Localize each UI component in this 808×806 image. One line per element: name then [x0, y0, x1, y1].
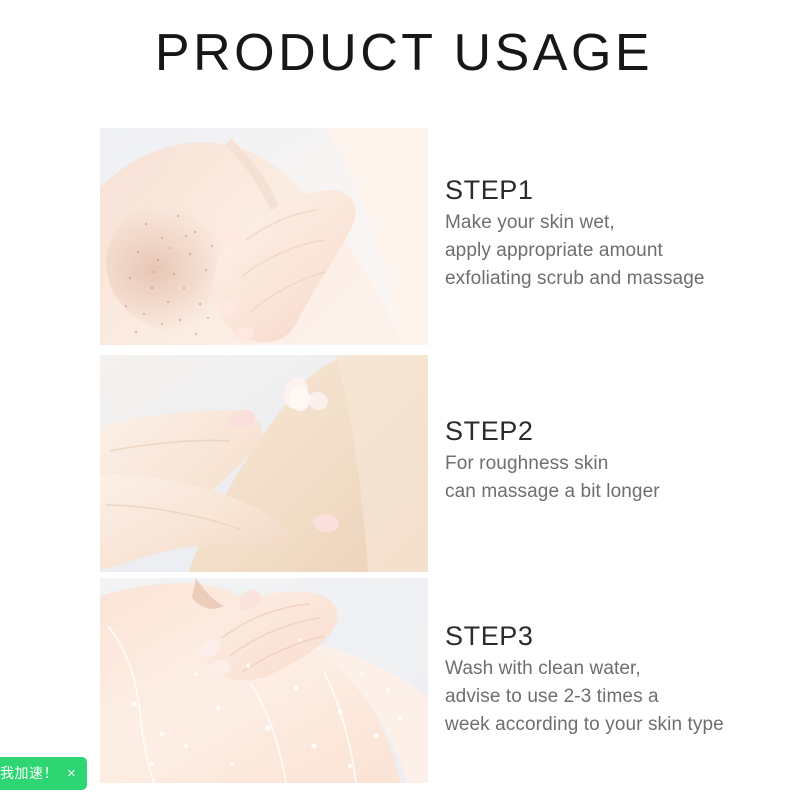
step-photo-1 [100, 128, 428, 345]
step-body-line: apply appropriate amount [445, 237, 790, 265]
step-body-line: For roughness skin [445, 450, 790, 478]
step-heading: STEP2 [445, 415, 790, 447]
rinsing-shoulder-illustration [100, 578, 428, 783]
step-heading: STEP1 [445, 174, 790, 206]
step-photo-2 [100, 355, 428, 572]
step-body-line: Wash with clean water, [445, 655, 790, 683]
step-body: For roughness skin can massage a bit lon… [445, 450, 790, 506]
accelerate-badge-label: 我加速！ [0, 757, 58, 790]
step-heading: STEP3 [445, 620, 790, 652]
step-photo-3 [100, 578, 428, 783]
step-text-block: STEP2 For roughness skin can massage a b… [445, 415, 790, 506]
step-body: Wash with clean water, advise to use 2-3… [445, 655, 790, 739]
step-body-line: advise to use 2-3 times a [445, 683, 790, 711]
accelerate-floating-badge[interactable]: 我加速！ × [0, 757, 87, 790]
step-body-line: Make your skin wet, [445, 209, 790, 237]
scrub-on-shoulder-illustration [100, 128, 428, 345]
step-text-block: STEP1 Make your skin wet, apply appropri… [445, 174, 790, 293]
step-body-line: can massage a bit longer [445, 478, 790, 506]
close-icon[interactable]: × [67, 766, 76, 781]
step-body: Make your skin wet, apply appropriate am… [445, 209, 790, 293]
page-title: PRODUCT USAGE [0, 22, 808, 84]
step-body-line: week according to your skin type [445, 711, 790, 739]
massage-on-leg-illustration [100, 355, 428, 572]
step-body-line: exfoliating scrub and massage [445, 265, 790, 293]
step-text-block: STEP3 Wash with clean water, advise to u… [445, 620, 790, 739]
